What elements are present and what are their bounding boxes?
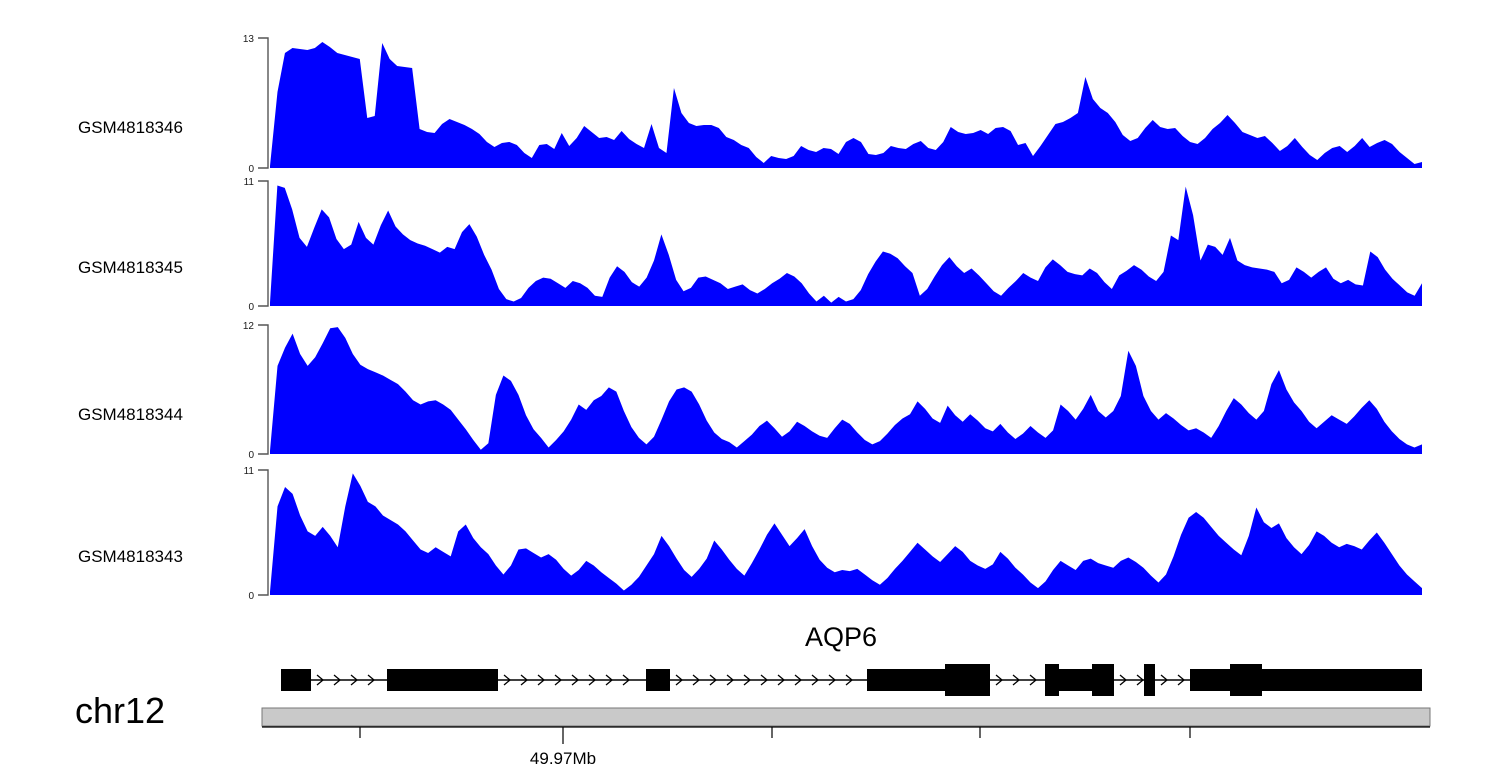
- axis-ticks: 49.97Mb: [262, 727, 1430, 768]
- track-area-0: 130: [243, 34, 1422, 173]
- y-axis-min-label: 0: [248, 591, 254, 602]
- y-axis-bracket: [258, 38, 268, 168]
- coverage-area: [270, 42, 1422, 168]
- exon-block[interactable]: [387, 669, 498, 691]
- coverage-track-2: GSM4818344 120: [0, 317, 1500, 460]
- coverage-track-0: GSM4818346 130: [0, 28, 1500, 173]
- coverage-area: [270, 186, 1422, 306]
- genome-axis[interactable]: 49.97Mb: [0, 700, 1500, 780]
- track-plot-3[interactable]: 110: [0, 462, 1500, 602]
- y-axis-min-label: 0: [248, 164, 254, 173]
- exon-block[interactable]: [945, 664, 990, 696]
- exon-block[interactable]: [646, 669, 670, 691]
- coverage-area: [270, 473, 1422, 595]
- coverage-area: [270, 327, 1422, 454]
- axis-tick-label: 49.97Mb: [530, 749, 596, 768]
- track-plot-2[interactable]: 120: [0, 317, 1500, 460]
- track-area-2: 120: [243, 321, 1422, 460]
- y-axis-bracket: [258, 325, 268, 454]
- y-axis-max-label: 12: [243, 321, 255, 332]
- track-plot-1[interactable]: 110: [0, 173, 1500, 313]
- exon-block[interactable]: [1144, 664, 1155, 696]
- gene-features: [281, 664, 1422, 696]
- y-axis-min-label: 0: [248, 302, 254, 313]
- exon-block[interactable]: [1059, 669, 1092, 691]
- track-area-3: 110: [244, 466, 1422, 602]
- exon-block[interactable]: [867, 669, 945, 691]
- y-axis-bracket: [258, 181, 268, 306]
- gene-name-label: AQP6: [805, 622, 877, 653]
- y-axis-max-label: 11: [244, 177, 255, 188]
- track-area-1: 110: [244, 177, 1422, 313]
- exon-block[interactable]: [1190, 669, 1230, 691]
- y-axis-min-label: 0: [248, 450, 254, 460]
- exon-block[interactable]: [1045, 664, 1059, 696]
- y-axis-max-label: 11: [244, 466, 255, 477]
- ideogram-rect[interactable]: [262, 708, 1430, 726]
- exon-block[interactable]: [1262, 669, 1422, 691]
- y-axis-max-label: 13: [243, 34, 255, 45]
- y-axis-bracket: [258, 470, 268, 595]
- track-plot-0[interactable]: 130: [0, 28, 1500, 173]
- coverage-track-1: GSM4818345 110: [0, 173, 1500, 313]
- coverage-track-3: GSM4818343 110: [0, 462, 1500, 602]
- genome-browser-view: GSM4818346 130 GSM4818345 110 GSM4818344…: [0, 0, 1500, 780]
- ideogram-bar: [262, 708, 1430, 726]
- exon-block[interactable]: [281, 669, 311, 691]
- exon-block[interactable]: [1092, 664, 1114, 696]
- exon-block[interactable]: [1230, 664, 1262, 696]
